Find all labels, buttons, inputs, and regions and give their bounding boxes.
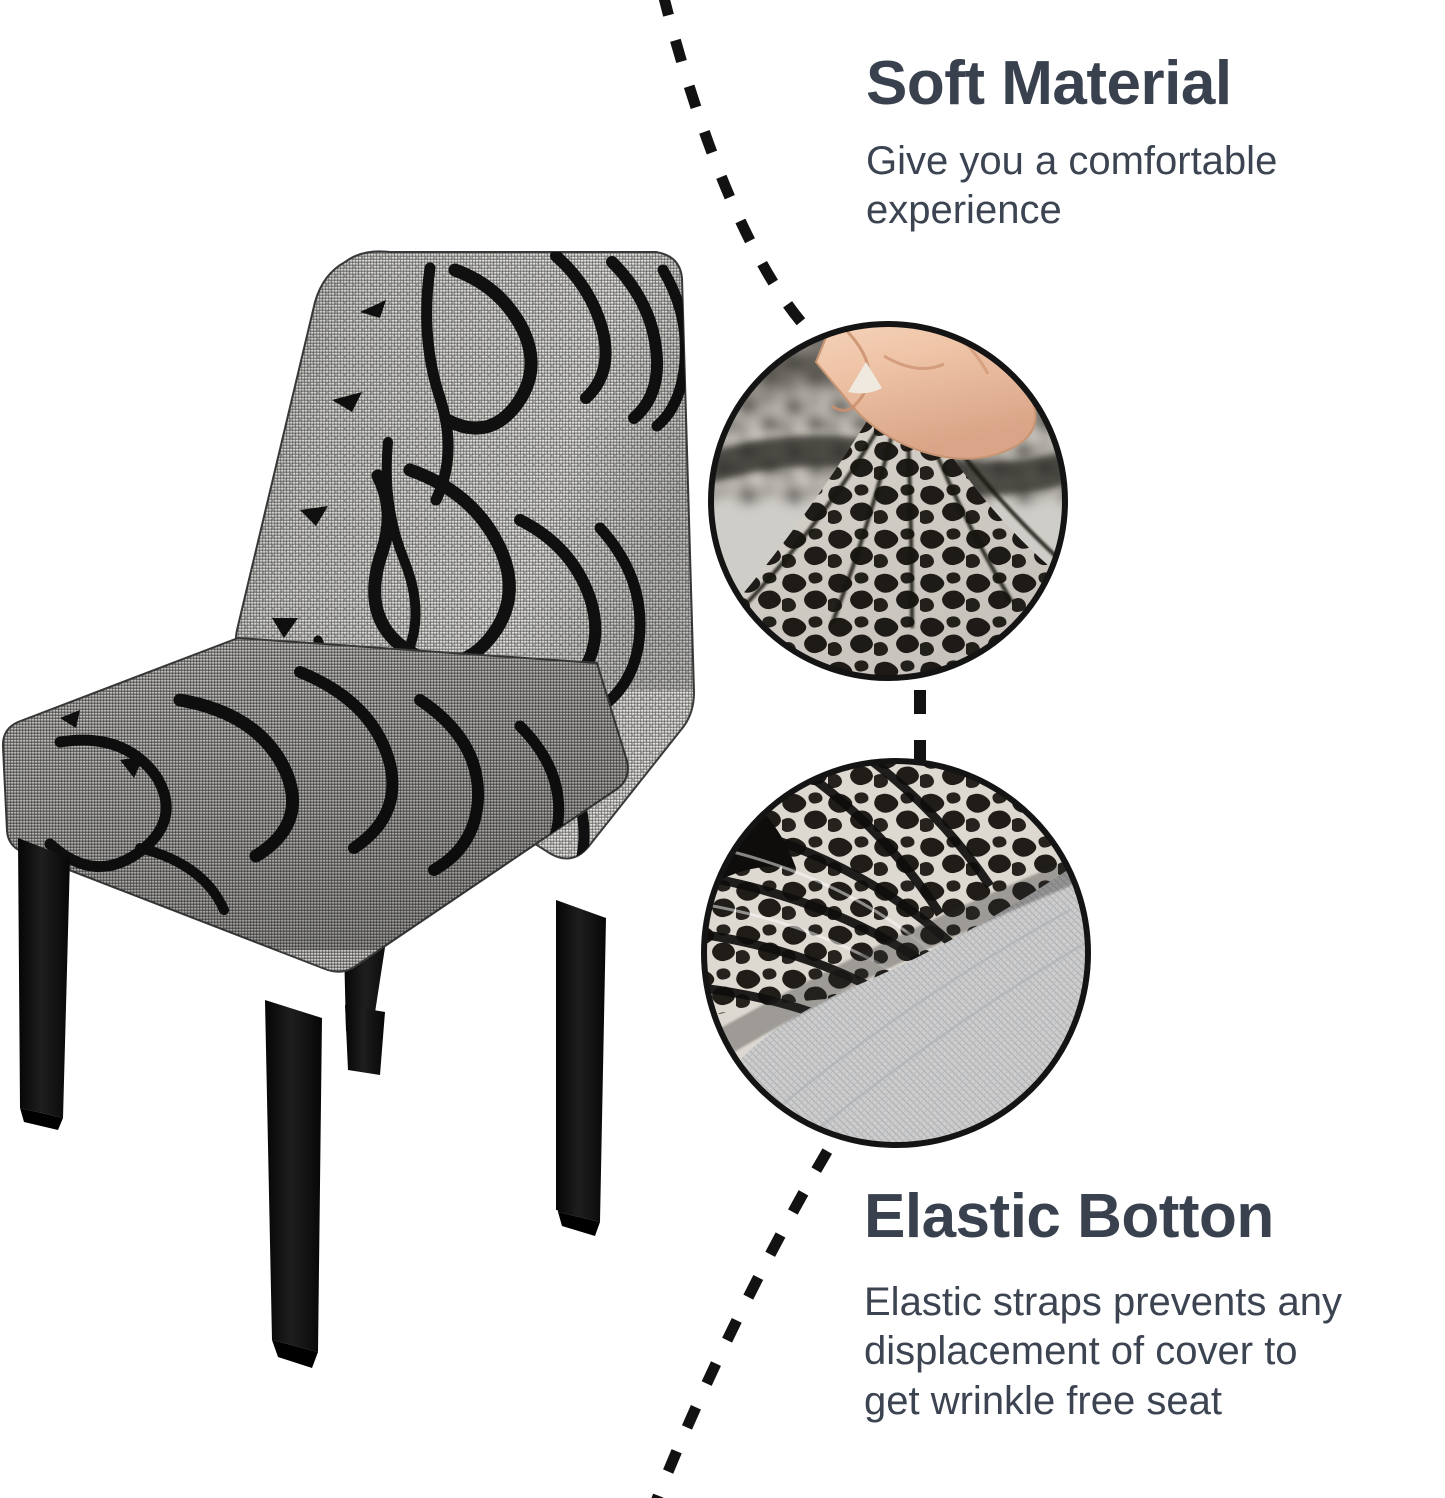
- dashed-divider-bottom: [655, 1110, 852, 1498]
- feature-title-soft-material: Soft Material: [866, 52, 1277, 115]
- chair-back: [200, 240, 720, 906]
- feature-block-elastic-botton: Elastic Botton Elastic straps prevents a…: [864, 1185, 1342, 1426]
- feature-body-line: displacement of cover to: [864, 1327, 1342, 1376]
- chair-legs: [343, 902, 600, 1218]
- feature-body-soft-material: Give you a comfortable experience: [866, 137, 1277, 235]
- feature-body-line: Give you a comfortable: [866, 137, 1277, 186]
- dashed-divider: [655, 0, 852, 1498]
- finger: [816, 300, 1036, 458]
- feature-body-line: experience: [866, 186, 1277, 235]
- feature-body-elastic-botton: Elastic straps prevents any displacement…: [864, 1278, 1342, 1426]
- feature-body-line: Elastic straps prevents any: [864, 1278, 1342, 1327]
- feature-body-line: get wrinkle free seat: [864, 1377, 1342, 1426]
- chair-seat-print: [0, 620, 660, 950]
- chair-legs-front: [18, 838, 606, 1368]
- feature-title-elastic-botton: Elastic Botton: [864, 1185, 1342, 1248]
- fabric-stretch-photo: [700, 300, 1090, 810]
- dashed-divider-top: [663, 0, 836, 356]
- elastic-hem-photo: [700, 758, 1094, 1152]
- chair-back-print: [200, 240, 720, 906]
- feature-block-soft-material: Soft Material Give you a comfortable exp…: [866, 52, 1277, 236]
- chair-seat: [0, 620, 660, 972]
- infographic-canvas: Soft Material Give you a comfortable exp…: [0, 0, 1445, 1498]
